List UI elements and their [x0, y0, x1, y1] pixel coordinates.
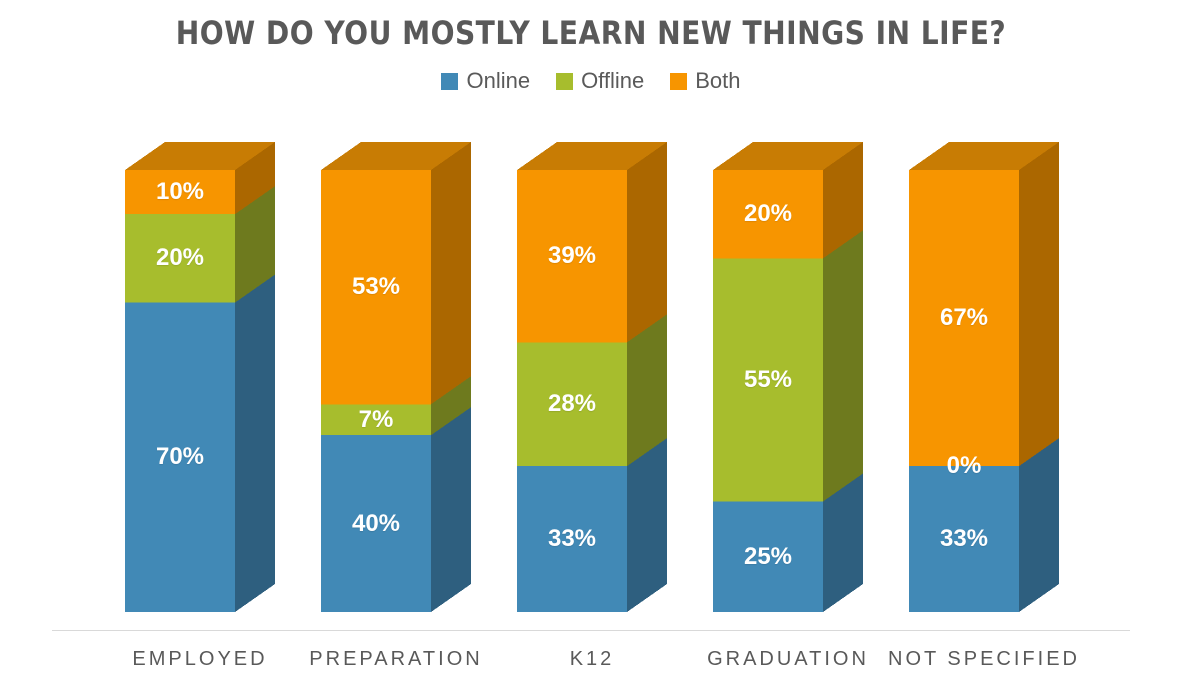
bar-segment-employed-both[interactable] — [125, 170, 235, 214]
bar-side-not-specified-both[interactable] — [1019, 142, 1059, 466]
bar-side-graduation-offline[interactable] — [823, 230, 863, 501]
category-axis-labels: EMPLOYEDPREPARATIONK12GRADUATIONNOT SPEC… — [0, 648, 1182, 678]
bar-side-k12-both[interactable] — [627, 142, 667, 342]
bar-side-employed-online[interactable] — [235, 275, 275, 612]
bar-segment-k12-online[interactable] — [517, 466, 627, 612]
bars-svg — [0, 0, 1182, 688]
category-axis-line — [52, 630, 1130, 631]
bar-segment-graduation-online[interactable] — [713, 502, 823, 613]
bar-segment-k12-offline[interactable] — [517, 342, 627, 466]
bar-segment-preparation-both[interactable] — [321, 170, 431, 404]
bar-side-k12-online[interactable] — [627, 438, 667, 612]
bar-segment-not-specified-online[interactable] — [909, 466, 1019, 612]
chart-container: HOW DO YOU MOSTLY LEARN NEW THINGS IN LI… — [0, 0, 1182, 688]
plot-area — [0, 0, 1182, 688]
bar-side-preparation-online[interactable] — [431, 407, 471, 612]
bar-side-preparation-both[interactable] — [431, 142, 471, 404]
category-label-not-specified: NOT SPECIFIED — [834, 648, 1134, 671]
bar-segment-not-specified-both[interactable] — [909, 170, 1019, 466]
bar-segment-graduation-both[interactable] — [713, 170, 823, 258]
bar-segment-k12-both[interactable] — [517, 170, 627, 342]
bar-segment-preparation-offline[interactable] — [321, 404, 431, 435]
bar-segment-employed-online[interactable] — [125, 303, 235, 612]
bar-side-not-specified-online[interactable] — [1019, 438, 1059, 612]
bar-segment-graduation-offline[interactable] — [713, 258, 823, 501]
bar-segment-employed-offline[interactable] — [125, 214, 235, 302]
bar-segment-preparation-online[interactable] — [321, 435, 431, 612]
